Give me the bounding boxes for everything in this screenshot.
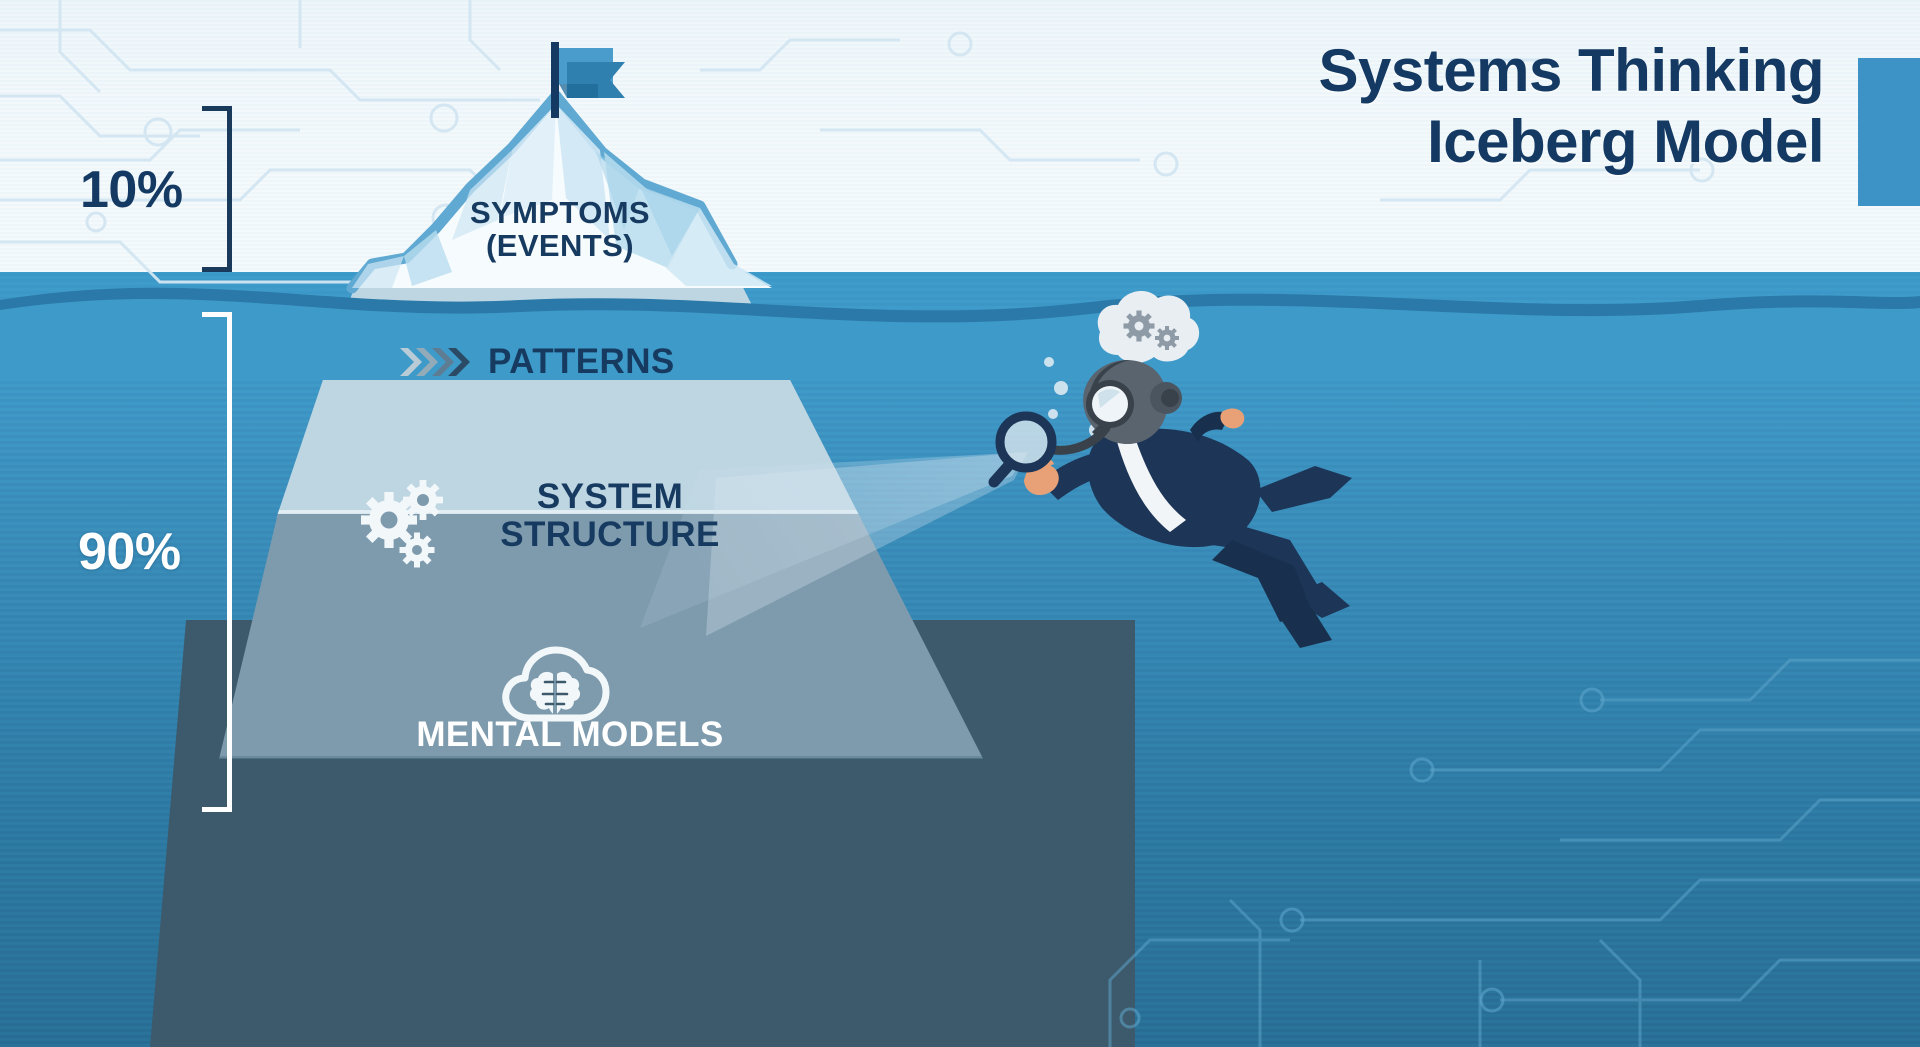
title-line-1: Systems Thinking <box>1319 36 1824 107</box>
chevrons-right-icon <box>398 345 470 379</box>
bracket-above-water <box>202 106 232 272</box>
layer-label-symptoms: SYMPTOMS (EVENTS) <box>380 196 740 263</box>
mental-text: MENTAL MODELS <box>416 715 723 754</box>
patterns-text: PATTERNS <box>488 343 675 381</box>
symptoms-line2: (EVENTS) <box>486 228 634 263</box>
infographic-canvas: SYMPTOMS (EVENTS) PATTERNS <box>0 0 1920 1047</box>
layer-label-mental-models: MENTAL MODELS <box>360 716 780 754</box>
title-line-2: Iceberg Model <box>1319 107 1824 178</box>
title-accent-bar <box>1858 58 1920 206</box>
layer-label-system-structure: SYSTEM STRUCTURE <box>400 478 820 554</box>
symptoms-line1: SYMPTOMS <box>470 195 650 230</box>
page-title: Systems Thinking Iceberg Model <box>1319 36 1824 178</box>
percent-above-water: 10% <box>80 160 183 220</box>
system-line1: SYSTEM <box>537 477 683 516</box>
layer-label-patterns: PATTERNS <box>398 343 818 381</box>
bracket-below-water <box>202 312 232 812</box>
percent-below-water: 90% <box>78 522 181 582</box>
system-line2: STRUCTURE <box>500 515 719 554</box>
